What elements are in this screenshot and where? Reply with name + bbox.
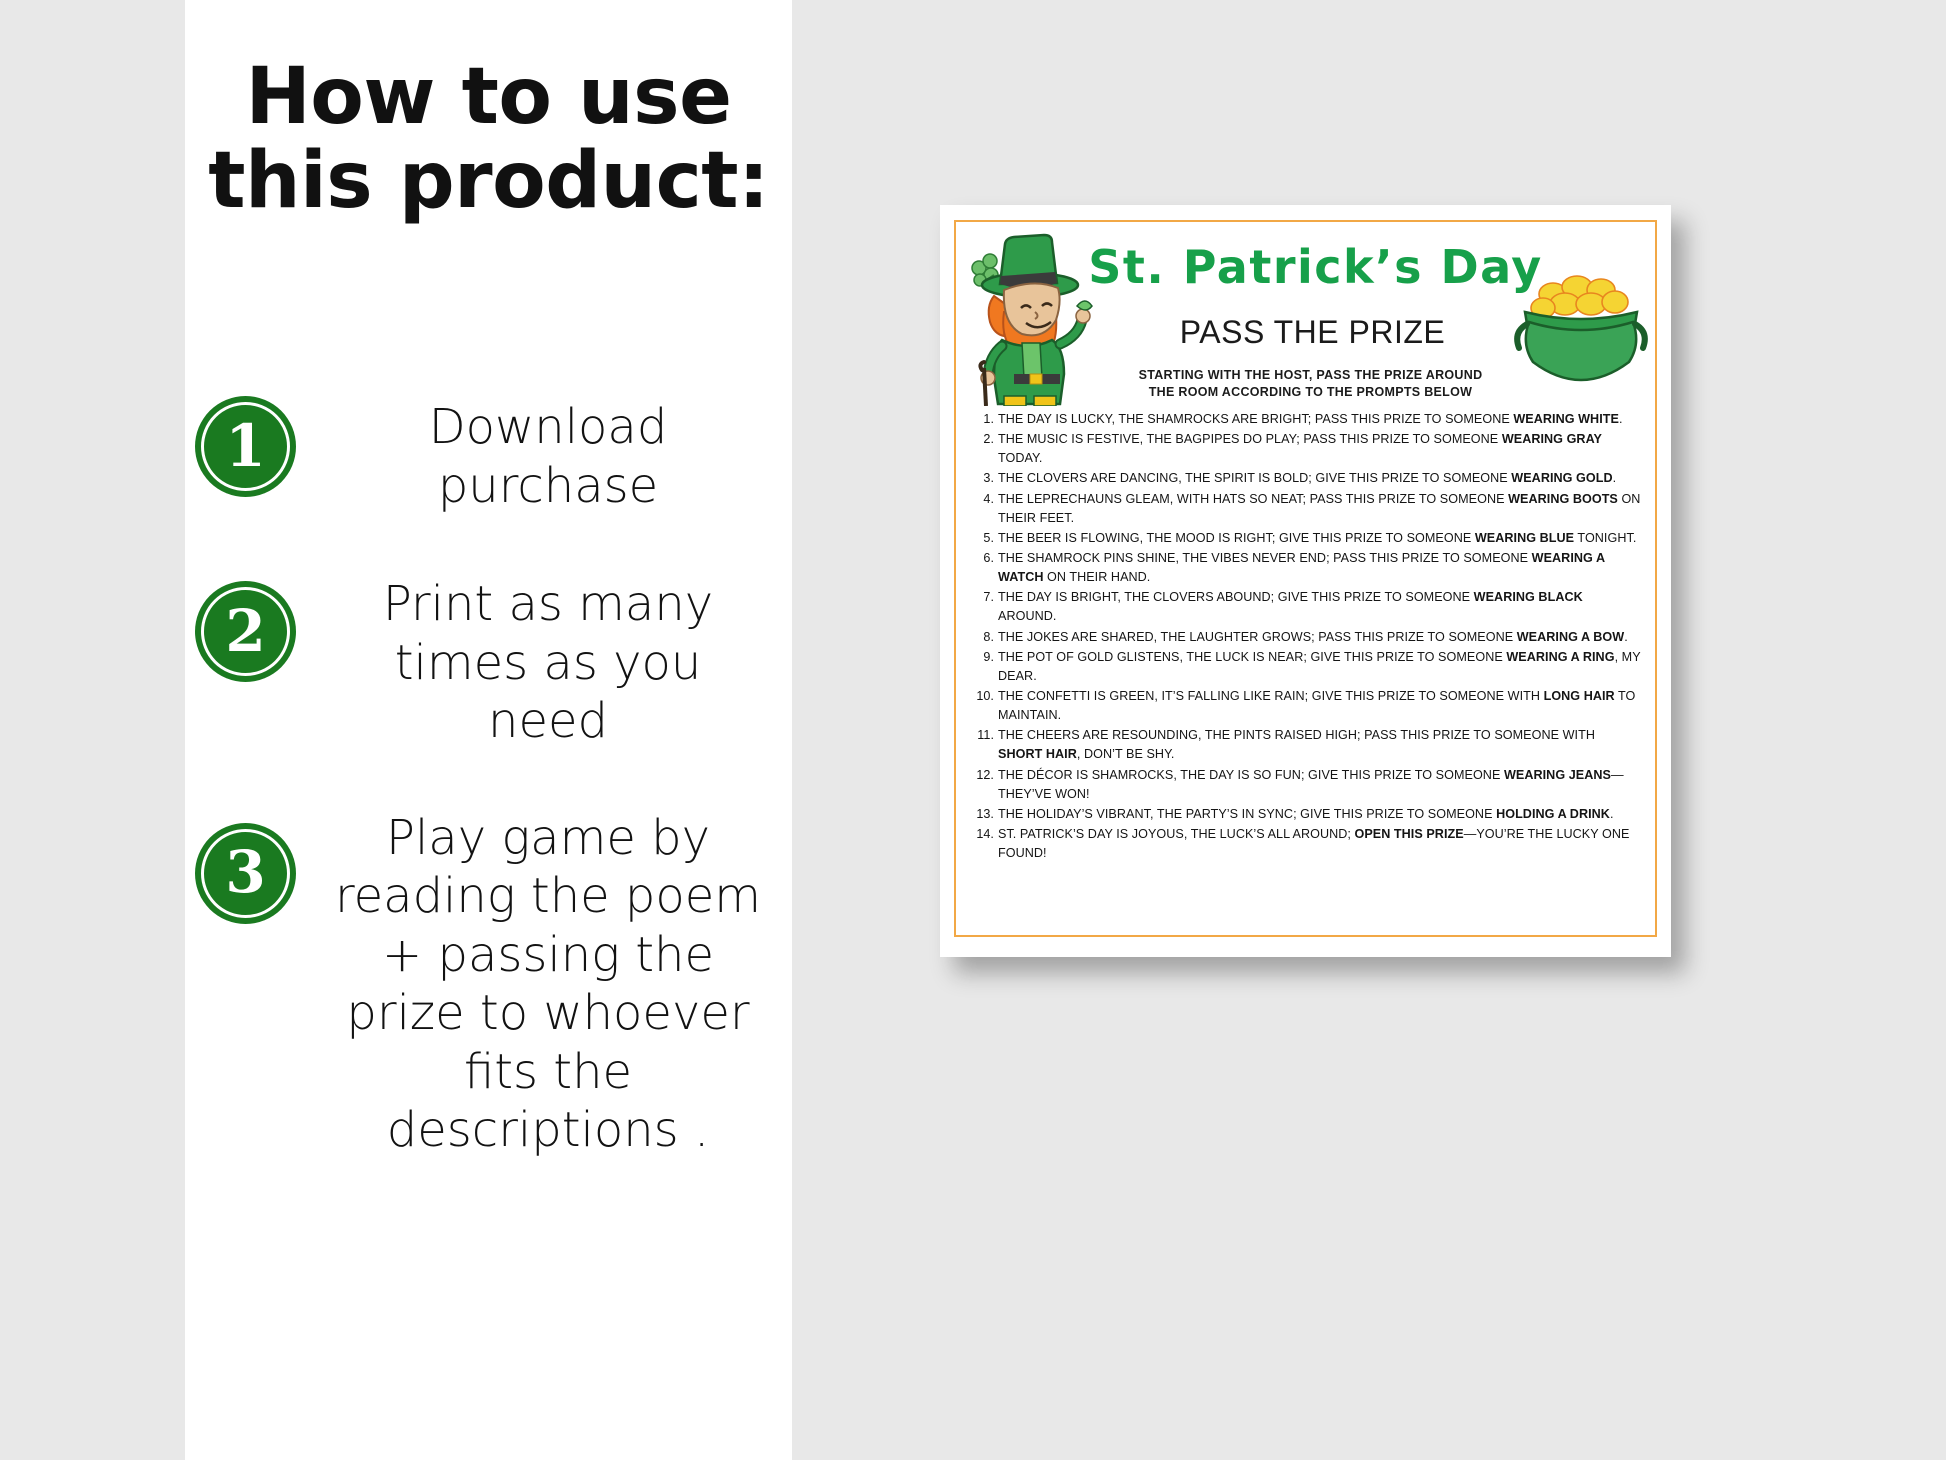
prompt-keyword: WEARING GOLD [1511,471,1612,485]
prompt-keyword: WEARING WHITE [1513,412,1619,426]
prompt-keyword: WEARING GRAY [1502,432,1602,446]
prompt-text: THE POT OF GOLD GLISTENS, THE LUCK IS NE… [998,648,1641,686]
prompt-text: THE HOLIDAY’S VIBRANT, THE PARTY’S IN SY… [998,805,1641,824]
prompt-list: 1.THE DAY IS LUCKY, THE SHAMROCKS ARE BR… [966,410,1641,929]
prompt-number: 1. [966,410,998,429]
prompt-number: 5. [966,529,998,548]
prompt-keyword: SHORT HAIR [998,747,1077,761]
prompt-number: 2. [966,430,998,449]
step-number-badge-2: 2 [195,581,296,682]
step-number-label: 2 [195,581,296,682]
step-description: Print as many times as you need [304,575,792,751]
prompt-number: 6. [966,549,998,568]
prompt-number: 4. [966,490,998,509]
prompt-number: 3. [966,469,998,488]
prompt-text: THE CHEERS ARE RESOUNDING, THE PINTS RAI… [998,726,1641,764]
prompt-number: 13. [966,805,998,824]
list-item: 4.THE LEPRECHAUNS GLEAM, WITH HATS SO NE… [966,490,1641,528]
prompt-number: 10. [966,687,998,706]
prompt-text: ST. PATRICK’S DAY IS JOYOUS, THE LUCK’S … [998,825,1641,863]
prompt-text: THE JOKES ARE SHARED, THE LAUGHTER GROWS… [998,628,1641,647]
list-item: 11.THE CHEERS ARE RESOUNDING, THE PINTS … [966,726,1641,764]
prompt-number: 12. [966,766,998,785]
list-item: 3 Play game by reading the poem + passin… [185,809,792,1160]
step-number-badge-3: 3 [195,823,296,924]
prompt-text: THE BEER IS FLOWING, THE MOOD IS RIGHT; … [998,529,1641,548]
list-item: 3.THE CLOVERS ARE DANCING, THE SPIRIT IS… [966,469,1641,488]
step-number-badge-1: 1 [195,396,296,497]
list-item: 9.THE POT OF GOLD GLISTENS, THE LUCK IS … [966,648,1641,686]
prompt-number: 8. [966,628,998,647]
prompt-keyword: LONG HAIR [1544,689,1615,703]
prompt-keyword: WEARING BOOTS [1508,492,1618,506]
prompt-keyword: WEARING A RING [1506,650,1614,664]
list-item: 13.THE HOLIDAY’S VIBRANT, THE PARTY’S IN… [966,805,1641,824]
prompt-keyword: WEARING BLACK [1474,590,1583,604]
step-number-label: 1 [195,396,296,497]
list-item: 2 Print as many times as you need [185,575,792,751]
prompt-keyword: WEARING BLUE [1475,531,1574,545]
prompt-keyword: WEARING JEANS [1504,768,1611,782]
prompt-text: THE CONFETTI IS GREEN, IT’S FALLING LIKE… [998,687,1641,725]
prompt-text: THE DAY IS LUCKY, THE SHAMROCKS ARE BRIG… [998,410,1641,429]
prompt-keyword: WEARING A BOW [1517,630,1624,644]
prompt-number: 7. [966,588,998,607]
list-item: 7.THE DAY IS BRIGHT, THE CLOVERS ABOUND;… [966,588,1641,626]
page-title: How to use this product: [185,55,792,223]
poster-header: St. Patrick’s Day PASS THE PRIZE STARTIN… [956,222,1655,404]
steps-list: 1 Download purchase 2 Print as many time… [185,390,792,1180]
prompt-text: THE CLOVERS ARE DANCING, THE SPIRIT IS B… [998,469,1641,488]
list-item: 14.ST. PATRICK’S DAY IS JOYOUS, THE LUCK… [966,825,1641,863]
prompt-text: THE LEPRECHAUNS GLEAM, WITH HATS SO NEAT… [998,490,1641,528]
poster-instructions: STARTING WITH THE HOST, PASS THE PRIZE A… [956,367,1655,401]
prompt-text: THE DÉCOR IS SHAMROCKS, THE DAY IS SO FU… [998,766,1641,804]
prompt-number: 11. [966,726,998,745]
step-number-label: 3 [195,823,296,924]
poster-inner-border: St. Patrick’s Day PASS THE PRIZE STARTIN… [954,220,1657,937]
how-to-use-panel: How to use this product: 1 Download purc… [185,0,792,1460]
prompt-number: 9. [966,648,998,667]
poster-preview-card: St. Patrick’s Day PASS THE PRIZE STARTIN… [940,205,1671,957]
poster-subtitle: PASS THE PRIZE [956,314,1655,351]
list-item: 8.THE JOKES ARE SHARED, THE LAUGHTER GRO… [966,628,1641,647]
step-description: Download purchase [304,390,792,515]
prompt-text: THE SHAMROCK PINS SHINE, THE VIBES NEVER… [998,549,1641,587]
list-item: 10.THE CONFETTI IS GREEN, IT’S FALLING L… [966,687,1641,725]
prompt-keyword: WEARING A WATCH [998,551,1605,584]
poster-title: St. Patrick’s Day [956,240,1655,294]
step-description: Play game by reading the poem + passing … [304,809,792,1160]
list-item: 2.THE MUSIC IS FESTIVE, THE BAGPIPES DO … [966,430,1641,468]
prompt-keyword: HOLDING A DRINK [1496,807,1610,821]
prompt-keyword: OPEN THIS PRIZE [1354,827,1463,841]
prompt-text: THE MUSIC IS FESTIVE, THE BAGPIPES DO PL… [998,430,1641,468]
prompt-text: THE DAY IS BRIGHT, THE CLOVERS ABOUND; G… [998,588,1641,626]
list-item: 5.THE BEER IS FLOWING, THE MOOD IS RIGHT… [966,529,1641,548]
list-item: 1 Download purchase [185,390,792,515]
list-item: 1.THE DAY IS LUCKY, THE SHAMROCKS ARE BR… [966,410,1641,429]
list-item: 12.THE DÉCOR IS SHAMROCKS, THE DAY IS SO… [966,766,1641,804]
list-item: 6.THE SHAMROCK PINS SHINE, THE VIBES NEV… [966,549,1641,587]
prompt-number: 14. [966,825,998,844]
